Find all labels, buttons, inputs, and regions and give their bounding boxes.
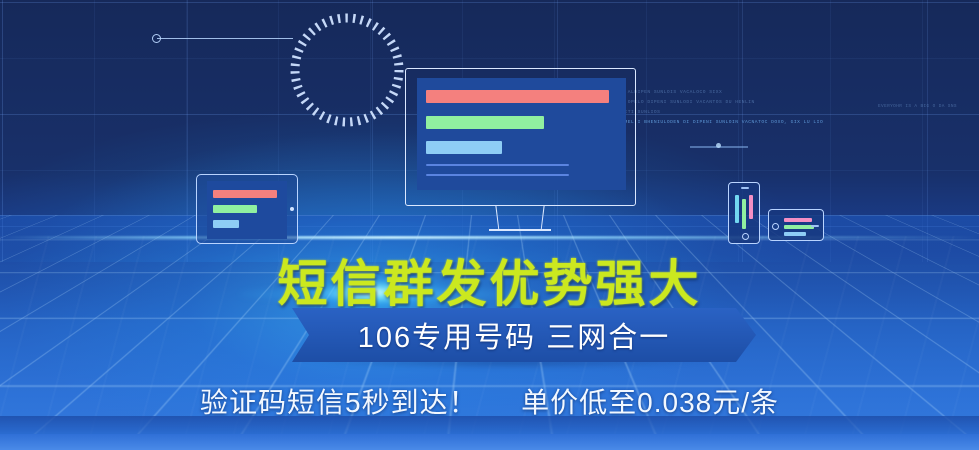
decor-code-line: SUC TAMEL I BHENIULODEN DI DIPENI SUNLOI… <box>605 118 855 128</box>
promo-banner: SIT IN ALDIPEN SUNLOIS VACALOCO SIXX BAN… <box>0 0 979 450</box>
horizontal-phone-illustration <box>768 209 824 241</box>
decor-code-block: SIT IN ALDIPEN SUNLOIS VACALOCO SIXX BAN… <box>605 88 855 128</box>
phone-speaker-icon <box>741 187 749 189</box>
monitor-line-1 <box>426 164 569 166</box>
tablet-bar-green <box>213 205 257 213</box>
desktop-monitor-illustration <box>405 68 636 228</box>
tablet-screen <box>207 181 287 239</box>
bottom-strip-inner <box>0 416 979 434</box>
tablet-frame <box>196 174 298 244</box>
circle-lead-line <box>157 38 293 39</box>
tagline-right: 单价低至0.038元/条 <box>521 387 779 418</box>
tagline-left: 验证码短信5秒到达！ <box>200 387 478 418</box>
decor-code-line: NO DIFITI SUNLIOS <box>605 108 855 118</box>
decor-code-line: SIT IN ALDIPEN SUNLOIS VACALOCO SIXX <box>605 88 855 98</box>
dashed-circle-icon <box>285 8 409 132</box>
decor-code-line: EVERYOHR IS A BIG O DA SNS <box>878 104 957 109</box>
phone-landscape-bar-blue <box>784 232 806 236</box>
phone-landscape-home-button-icon <box>772 223 779 230</box>
bottom-strip <box>0 434 979 450</box>
phone-landscape-frame <box>768 209 824 241</box>
tablet-home-button-icon <box>290 207 294 211</box>
monitor-bar-blue <box>426 141 502 154</box>
tablet-bar-red <box>213 190 277 198</box>
decor-code-block-right: EVERYOHR IS A BIG O DA SNS <box>878 104 957 109</box>
tablet-bar-blue <box>213 220 239 228</box>
monitor-line-2 <box>426 174 569 176</box>
phone-landscape-speaker-icon <box>811 225 819 227</box>
monitor-bar-red <box>426 90 609 103</box>
phone-bar-pink <box>749 195 753 219</box>
circle-lead-dot-icon <box>152 34 161 43</box>
monitor-frame <box>405 68 636 206</box>
monitor-bar-green <box>426 116 544 129</box>
decor-code-line: BANDLA OPELO DIPENI SUNLODI VACANTOS DU … <box>605 98 855 108</box>
ribbon-banner: 106专用号码 三网合一 <box>292 308 756 362</box>
ribbon-label: 106专用号码 三网合一 <box>292 308 736 362</box>
phone-frame <box>728 182 760 244</box>
phone-landscape-bar-pink <box>784 218 812 222</box>
vertical-phone-illustration <box>728 182 760 244</box>
tagline: 验证码短信5秒到达！ 单价低至0.038元/条 <box>0 381 979 421</box>
decor-dot-icon <box>716 143 721 148</box>
tablet-illustration <box>196 174 298 244</box>
phone-bar-green <box>742 199 746 229</box>
monitor-screen <box>417 78 626 190</box>
phone-home-button-icon <box>742 233 749 240</box>
monitor-stand-base <box>489 229 551 231</box>
monitor-stand-neck <box>495 206 544 231</box>
phone-bar-cyan <box>735 195 739 223</box>
phone-landscape-bar-green <box>784 225 814 229</box>
headline: 短信群发优势强大 <box>0 244 979 316</box>
